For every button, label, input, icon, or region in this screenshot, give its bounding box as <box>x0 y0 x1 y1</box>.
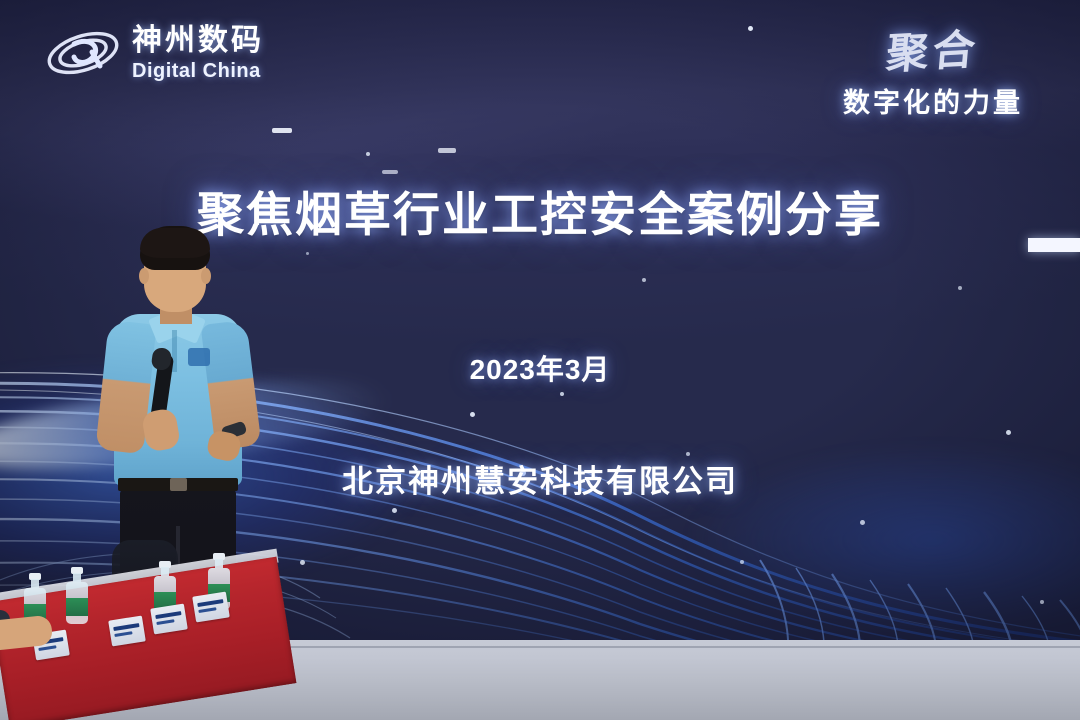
light-particle <box>438 148 456 153</box>
light-particle <box>642 278 646 282</box>
seated-attendee <box>0 600 56 670</box>
light-particle <box>272 128 292 133</box>
brand-name-cn: 神州数码 <box>132 26 264 56</box>
conference-photo: 聚焦烟草行业工控安全案例分享 2023年3月 北京神州慧安科技有限公司 神州数码… <box>0 0 1080 720</box>
presenter-shirt-logo <box>188 348 210 366</box>
light-particle <box>560 392 564 396</box>
light-particle <box>306 252 309 255</box>
light-particle <box>300 560 305 565</box>
name-card <box>192 592 230 623</box>
light-particle <box>740 560 744 564</box>
light-particle <box>748 26 753 31</box>
light-particle <box>958 286 962 290</box>
light-particle <box>470 412 475 417</box>
name-card <box>150 604 188 635</box>
water-bottle <box>66 568 88 624</box>
presenter-belt-buckle <box>170 478 187 491</box>
presenter-ear-right <box>201 268 211 284</box>
presenter-hair-top <box>140 228 210 258</box>
digital-china-logo: 神州数码 Digital China <box>44 22 264 84</box>
event-tagline: 数字化的力量 <box>808 81 1058 120</box>
digital-china-swirl-icon <box>44 22 122 84</box>
screen-edge-highlight <box>1028 238 1080 252</box>
light-particle <box>1040 600 1044 604</box>
event-calligraphy: 聚合 <box>805 11 1062 85</box>
light-particle <box>382 170 398 174</box>
brand-name-en: Digital China <box>132 61 264 81</box>
attendee-arm <box>0 615 53 652</box>
light-particle <box>860 520 865 525</box>
light-particle <box>392 508 397 513</box>
light-particle <box>1006 430 1011 435</box>
digital-china-wordmark: 神州数码 Digital China <box>132 26 264 81</box>
light-particle <box>366 152 370 156</box>
presenter-ear-left <box>139 268 149 284</box>
name-card <box>108 616 146 647</box>
event-logo: 聚合 数字化的力量 <box>808 18 1058 120</box>
